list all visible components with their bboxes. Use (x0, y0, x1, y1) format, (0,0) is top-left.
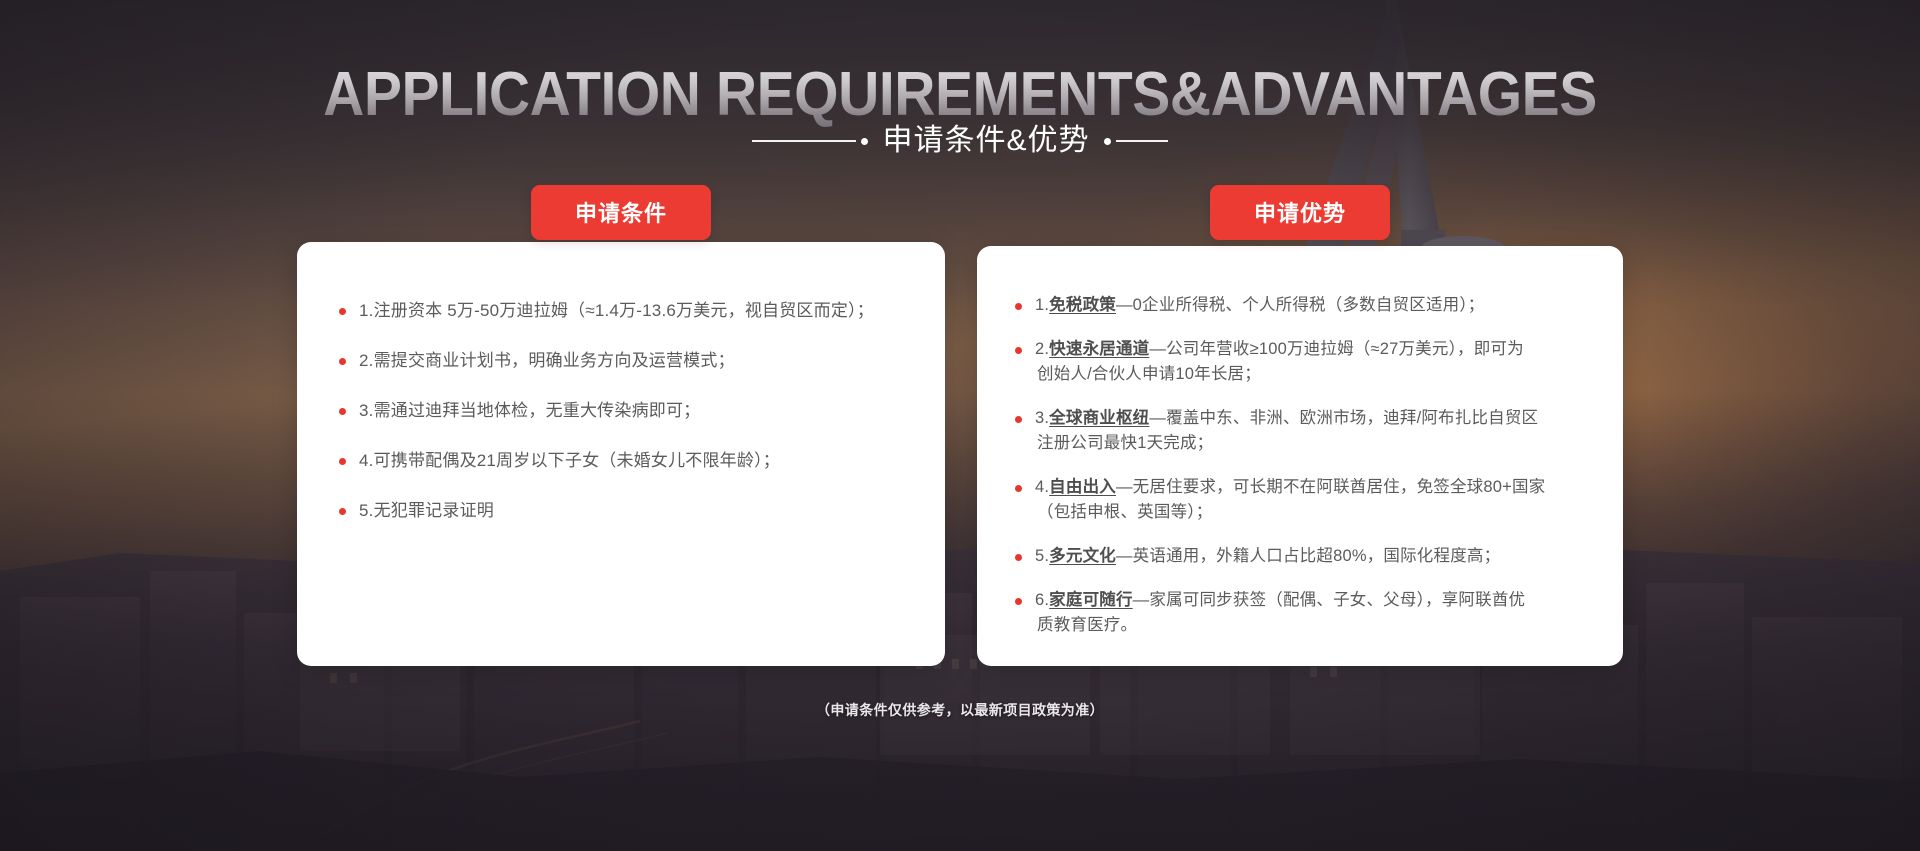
list-item-text-line2: 注册公司最快1天完成； (1035, 431, 1589, 456)
list-item-keyword: 家庭可随行 (1049, 591, 1133, 609)
card-advantages: 申请优势 1.免税政策—0企业所得税、个人所得税（多数自贸区适用）； 2.快速永… (977, 246, 1623, 666)
list-item-text: —无居住要求，可长期不在阿联酋居住，免签全球80+国家 (1116, 478, 1545, 496)
card-advantages-badge: 申请优势 (1210, 185, 1390, 240)
list-item: 2.快速永居通道—公司年营收≥100万迪拉姆（≈27万美元），即可为 创始人/合… (1013, 337, 1589, 387)
page-title-english: APPLICATION REQUIREMENTS&ADVANTAGES (77, 62, 1843, 128)
list-item-keyword: 免税政策 (1049, 296, 1116, 314)
list-item-index: 6. (1035, 591, 1049, 609)
page-root: APPLICATION REQUIREMENTS&ADVANTAGES 申请条件… (0, 0, 1920, 851)
list-item-keyword: 多元文化 (1049, 547, 1116, 565)
list-item: 2.需提交商业计划书，明确业务方向及运营模式； (337, 348, 905, 374)
list-item: 5.多元文化—英语通用，外籍人口占比超80%，国际化程度高； (1013, 544, 1589, 569)
requirements-list: 1.注册资本 5万-50万迪拉姆（≈1.4万-13.6万美元，视自贸区而定）； … (337, 298, 905, 524)
card-requirements-badge: 申请条件 (531, 185, 711, 240)
list-item-text: —公司年营收≥100万迪拉姆（≈27万美元），即可为 (1149, 340, 1523, 358)
footer-disclaimer: （申请条件仅供参考，以最新项目政策为准） (0, 700, 1920, 720)
content-overlay: APPLICATION REQUIREMENTS&ADVANTAGES 申请条件… (0, 0, 1920, 851)
card-advantages-body: 1.免税政策—0企业所得税、个人所得税（多数自贸区适用）； 2.快速永居通道—公… (977, 246, 1623, 666)
section-heading: APPLICATION REQUIREMENTS&ADVANTAGES 申请条件… (0, 62, 1920, 160)
list-item-text: —家属可同步获签（配偶、子女、父母），享阿联酋优 (1133, 591, 1526, 609)
list-item-keyword: 自由出入 (1049, 478, 1116, 496)
list-item-text-line2: 创始人/合伙人申请10年长居； (1035, 362, 1589, 387)
card-requirements: 申请条件 1.注册资本 5万-50万迪拉姆（≈1.4万-13.6万美元，视自贸区… (297, 242, 945, 666)
divider-left-icon (752, 138, 868, 145)
list-item: 6.家庭可随行—家属可同步获签（配偶、子女、父母），享阿联酋优 质教育医疗。 (1013, 588, 1589, 638)
list-item: 4.可携带配偶及21周岁以下子女（未婚女儿不限年龄）； (337, 448, 905, 474)
advantages-list: 1.免税政策—0企业所得税、个人所得税（多数自贸区适用）； 2.快速永居通道—公… (1013, 293, 1589, 638)
divider-right-icon (1104, 138, 1168, 145)
list-item: 1.注册资本 5万-50万迪拉姆（≈1.4万-13.6万美元，视自贸区而定）； (337, 298, 905, 324)
list-item-keyword: 全球商业枢纽 (1049, 409, 1149, 427)
list-item: 4.自由出入—无居住要求，可长期不在阿联酋居住，免签全球80+国家 （包括申根、… (1013, 475, 1589, 525)
list-item-text: —0企业所得税、个人所得税（多数自贸区适用）； (1116, 296, 1485, 314)
list-item: 3.需通过迪拜当地体检，无重大传染病即可； (337, 398, 905, 424)
list-item: 1.免税政策—0企业所得税、个人所得税（多数自贸区适用）； (1013, 293, 1589, 318)
list-item-text: —英语通用，外籍人口占比超80%，国际化程度高； (1116, 547, 1500, 565)
list-item: 3.全球商业枢纽—覆盖中东、非洲、欧洲市场，迪拜/阿布扎比自贸区 注册公司最快1… (1013, 406, 1589, 456)
list-item-index: 2. (1035, 340, 1049, 358)
list-item: 5.无犯罪记录证明 (337, 498, 905, 524)
list-item-keyword: 快速永居通道 (1049, 340, 1149, 358)
cards-container: 申请条件 1.注册资本 5万-50万迪拉姆（≈1.4万-13.6万美元，视自贸区… (297, 242, 1623, 666)
list-item-index: 5. (1035, 547, 1049, 565)
list-item-index: 4. (1035, 478, 1049, 496)
list-item-text-line2: （包括申根、英国等）； (1035, 500, 1589, 525)
list-item-text-line2: 质教育医疗。 (1035, 613, 1589, 638)
list-item-index: 1. (1035, 296, 1049, 314)
card-requirements-body: 1.注册资本 5万-50万迪拉姆（≈1.4万-13.6万美元，视自贸区而定）； … (297, 242, 945, 558)
list-item-index: 3. (1035, 409, 1049, 427)
list-item-text: —覆盖中东、非洲、欧洲市场，迪拜/阿布扎比自贸区 (1149, 409, 1538, 427)
